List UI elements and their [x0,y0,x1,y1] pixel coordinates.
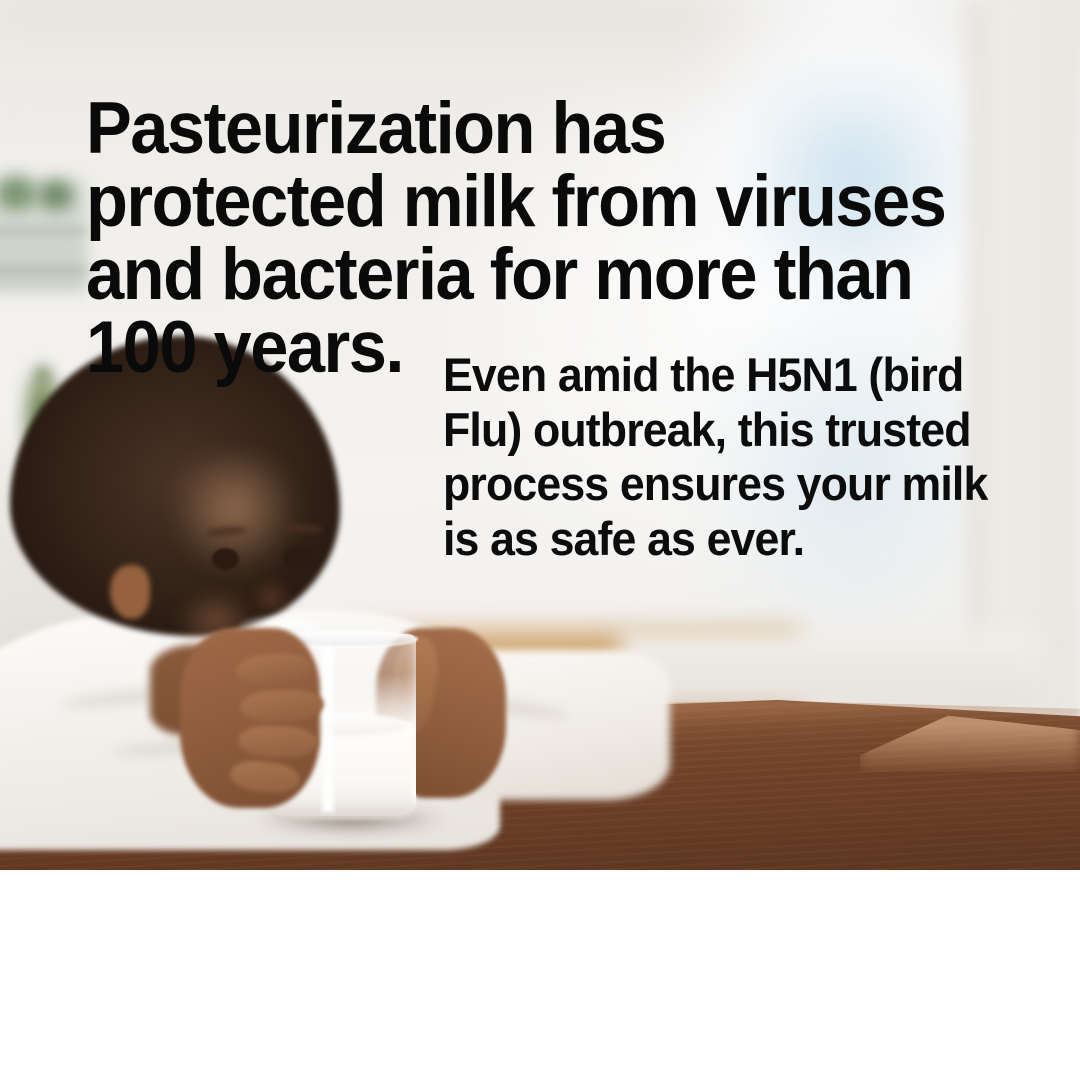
baseboard [620,630,1040,710]
eye-right [283,547,310,569]
footer-bar: EXCITE Extension Collaborative on Immuni… [0,870,1080,1080]
page-headline: Pasteurization has protected milk from v… [86,92,979,384]
glass-highlight [322,640,334,812]
ear [110,565,150,619]
social-media-poster: Pasteurization has protected milk from v… [0,0,1080,1080]
eye-left [212,548,239,570]
body-copy: Even amid the H5N1 (bird Flu) outbreak, … [443,348,994,566]
nose [250,578,292,612]
